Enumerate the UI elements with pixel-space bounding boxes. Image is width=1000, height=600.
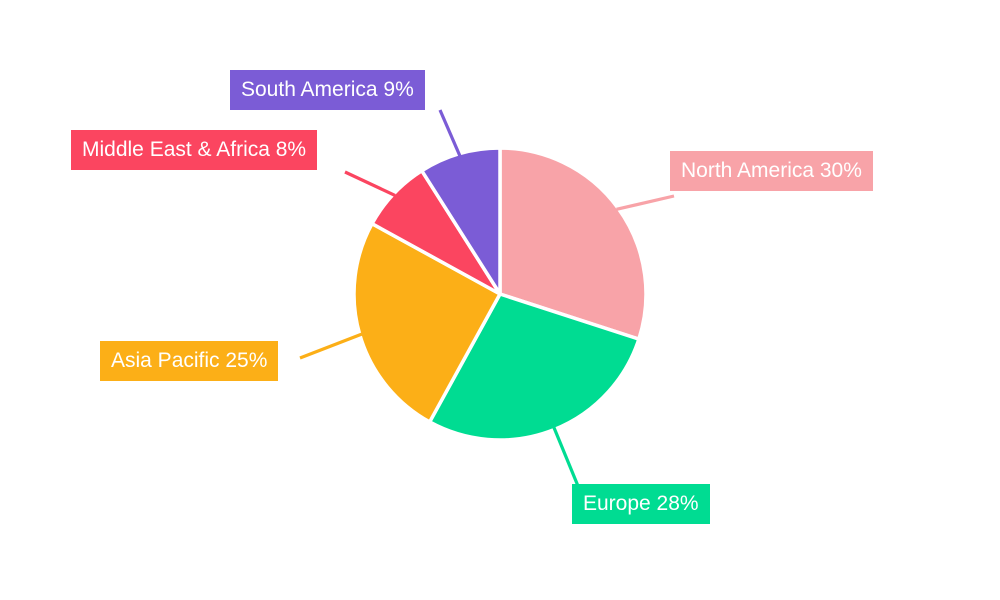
leader-line-asia-pacific bbox=[300, 334, 362, 358]
pie-label-asia-pacific[interactable]: Asia Pacific 25% bbox=[100, 341, 278, 381]
pie-chart-canvas: North America 30% Europe 28% Asia Pacifi… bbox=[0, 0, 1000, 600]
leader-line-north-america bbox=[617, 196, 675, 209]
leader-line-south-america bbox=[440, 110, 460, 156]
pie-chart-svg bbox=[0, 0, 1000, 600]
pie-label-south-america[interactable]: South America 9% bbox=[230, 70, 425, 110]
leader-line-middle-east-africa bbox=[345, 172, 395, 195]
leader-line-europe bbox=[554, 428, 578, 486]
pie-label-north-america[interactable]: North America 30% bbox=[670, 151, 873, 191]
pie-label-europe[interactable]: Europe 28% bbox=[572, 484, 710, 524]
pie-slices bbox=[354, 148, 646, 440]
pie-label-middle-east-africa[interactable]: Middle East & Africa 8% bbox=[71, 130, 317, 170]
